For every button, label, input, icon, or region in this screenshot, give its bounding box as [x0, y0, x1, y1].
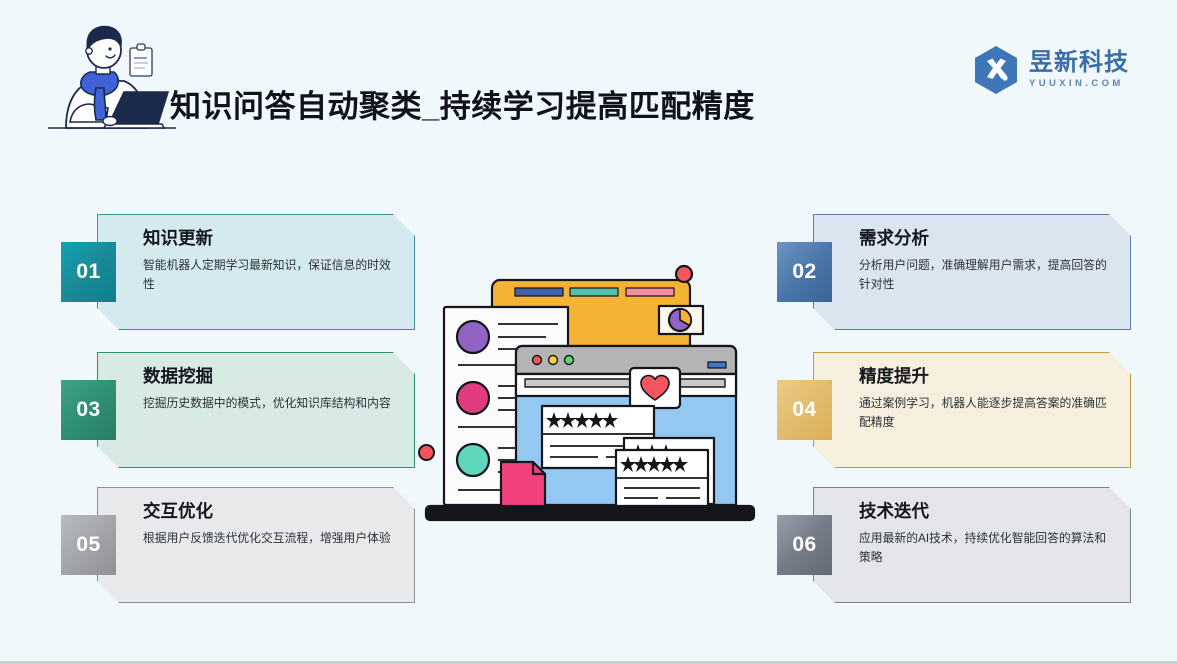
card-body: 数据挖掘 挖掘历史数据中的模式，优化知识库结构和内容 — [143, 366, 401, 413]
card-title: 技术迭代 — [859, 501, 1117, 522]
card-description: 挖掘历史数据中的模式，优化知识库结构和内容 — [143, 394, 401, 413]
card-body: 知识更新 智能机器人定期学习最新知识，保证信息的时效性 — [143, 228, 401, 294]
card-title: 精度提升 — [859, 366, 1117, 387]
slide-canvas: 知识问答自动聚类_持续学习提高匹配精度 昱新科技 YUUXIN.COM 01 知… — [0, 0, 1177, 664]
brand-name: 昱新科技 — [1029, 51, 1129, 75]
ground-bar — [426, 506, 754, 520]
person-with-laptop-illustration — [46, 18, 178, 138]
card-description: 根据用户反馈迭代优化交互流程，增强用户体验 — [143, 529, 401, 548]
brand-domain: YUUXIN.COM — [1029, 79, 1129, 89]
card-title: 知识更新 — [143, 228, 401, 249]
card-title: 数据挖掘 — [143, 366, 401, 387]
slide-header: 知识问答自动聚类_持续学习提高匹配精度 昱新科技 YUUXIN.COM — [0, 0, 1177, 152]
card-title: 交互优化 — [143, 501, 401, 522]
accent-dot-top — [676, 266, 692, 282]
brand-text: 昱新科技 YUUXIN.COM — [1029, 51, 1129, 89]
page-title: 知识问答自动聚类_持续学习提高匹配精度 — [170, 81, 755, 126]
card-number-badge: 03 — [61, 380, 116, 440]
card-03[interactable]: 03 数据挖掘 挖掘历史数据中的模式，优化知识库结构和内容 — [97, 352, 415, 468]
x-hexagon-logo-icon — [973, 45, 1019, 95]
card-05[interactable]: 05 交互优化 根据用户反馈迭代优化交互流程，增强用户体验 — [97, 487, 415, 603]
card-description: 应用最新的AI技术，持续优化智能回答的算法和策略 — [859, 529, 1117, 567]
card-04[interactable]: 04 精度提升 通过案例学习，机器人能逐步提高答案的准确匹配精度 — [813, 352, 1131, 468]
pink-document — [501, 462, 545, 508]
card-number-badge: 04 — [777, 380, 832, 440]
card-description: 智能机器人定期学习最新知识，保证信息的时效性 — [143, 256, 401, 294]
card-description: 通过案例学习，机器人能逐步提高答案的准确匹配精度 — [859, 394, 1117, 432]
card-01[interactable]: 01 知识更新 智能机器人定期学习最新知识，保证信息的时效性 — [97, 214, 415, 330]
pie-chart-widget — [659, 306, 703, 334]
card-number-badge: 06 — [777, 515, 832, 575]
accent-dot-left — [418, 444, 435, 461]
card-body: 精度提升 通过案例学习，机器人能逐步提高答案的准确匹配精度 — [859, 366, 1117, 432]
card-body: 技术迭代 应用最新的AI技术，持续优化智能回答的算法和策略 — [859, 501, 1117, 567]
card-description: 分析用户问题，准确理解用户需求，提高回答的针对性 — [859, 256, 1117, 294]
card-number-badge: 02 — [777, 242, 832, 302]
card-body: 需求分析 分析用户问题，准确理解用户需求，提高回答的针对性 — [859, 228, 1117, 294]
brand-logo: 昱新科技 YUUXIN.COM — [973, 44, 1129, 96]
card-06[interactable]: 06 技术迭代 应用最新的AI技术，持续优化智能回答的算法和策略 — [813, 487, 1131, 603]
dashboard-reviews-illustration — [418, 250, 762, 532]
card-02[interactable]: 02 需求分析 分析用户问题，准确理解用户需求，提高回答的针对性 — [813, 214, 1131, 330]
card-title: 需求分析 — [859, 228, 1117, 249]
card-number-badge: 05 — [61, 515, 116, 575]
clipboard-icon — [130, 44, 152, 76]
card-number-badge: 01 — [61, 242, 116, 302]
card-body: 交互优化 根据用户反馈迭代优化交互流程，增强用户体验 — [143, 501, 401, 548]
five-star-review-card-2 — [616, 450, 708, 508]
